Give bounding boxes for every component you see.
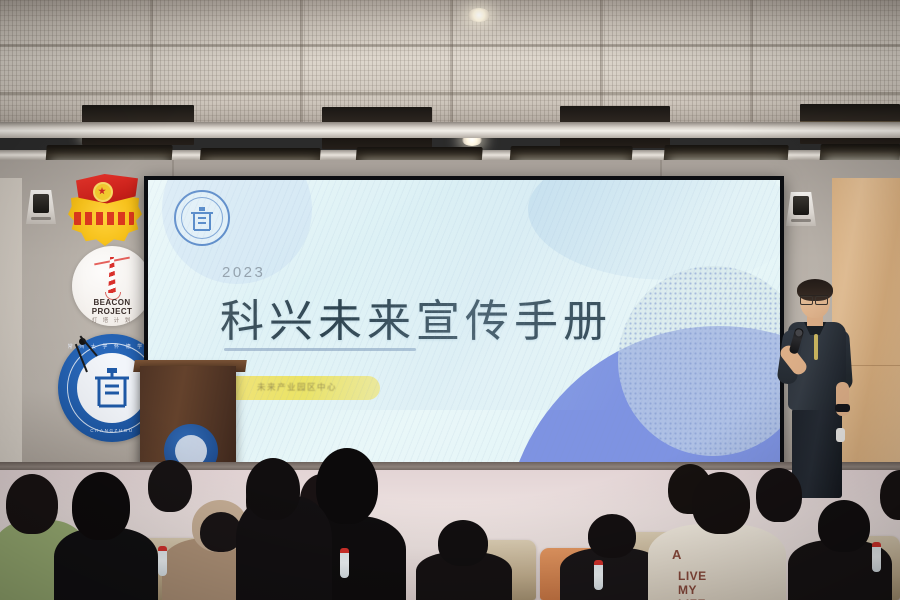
left-wall-panel (0, 178, 22, 490)
beacon-decal-title: BEACON PROJECT (72, 299, 152, 316)
lighting-truss-bar (0, 122, 900, 138)
emblem-star-icon (93, 182, 113, 202)
audience-jacket (648, 524, 786, 600)
water-bottle (158, 546, 167, 576)
slide-title-underline (224, 348, 416, 351)
presenter-lanyard (814, 334, 818, 360)
slide-shape-faint (528, 180, 780, 280)
seal-gate-glyph-icon (91, 366, 133, 410)
audience-head (316, 448, 378, 524)
projected-slide: 2023 科兴未来宣传手册 未来产业园区中心 (148, 180, 780, 468)
audience-head (692, 472, 750, 534)
auditorium-presentation-photo: BEACON PROJECT 灯 塔 计 划 常 州 大 学 怀 德 学 院 C… (0, 0, 900, 600)
audience-head (818, 500, 870, 552)
ceiling-tile-seam (450, 0, 453, 132)
jacket-text-line-2: LIVE MY LIFE (678, 570, 707, 600)
emblem-caption-strip (74, 212, 134, 225)
audience-head (148, 460, 192, 512)
water-bottle (340, 548, 349, 578)
projection-screen-frame: 2023 科兴未来宣传手册 未来产业园区中心 (144, 176, 784, 472)
ceiling-tile-seam (750, 0, 753, 132)
water-bottle (594, 560, 603, 590)
ceiling-downlight (468, 8, 490, 22)
audience-head (438, 520, 488, 566)
youth-league-emblem-decal (62, 172, 148, 248)
presenter-glasses (800, 295, 828, 303)
audience-head (72, 472, 130, 540)
presenter (778, 282, 862, 497)
slide-subtitle-text: 未来产业园区中心 (214, 381, 380, 393)
audience-head (756, 468, 802, 522)
audience-head (6, 474, 58, 534)
presenter-clicker (836, 428, 845, 442)
slide-logo-gate-icon (189, 206, 215, 232)
water-bottle (872, 542, 881, 572)
beacon-decal-subtitle: 灯 塔 计 划 (72, 316, 152, 324)
slide-year-label: 2023 (222, 264, 265, 281)
beacon-line-2: PROJECT (92, 307, 133, 316)
wall-speaker-left (26, 190, 56, 224)
wall-speaker-right (786, 192, 816, 226)
presenter-wristwatch (835, 404, 850, 412)
slide-university-logo (174, 190, 230, 246)
audience-head (588, 514, 636, 558)
ceiling-tile-seam (300, 0, 303, 132)
beacon-project-decal: BEACON PROJECT 灯 塔 计 划 (72, 246, 152, 326)
slide-main-title: 科兴未来宣传手册 (220, 285, 612, 349)
audience-head (246, 458, 300, 520)
jacket-text-line-1: A (672, 548, 682, 563)
